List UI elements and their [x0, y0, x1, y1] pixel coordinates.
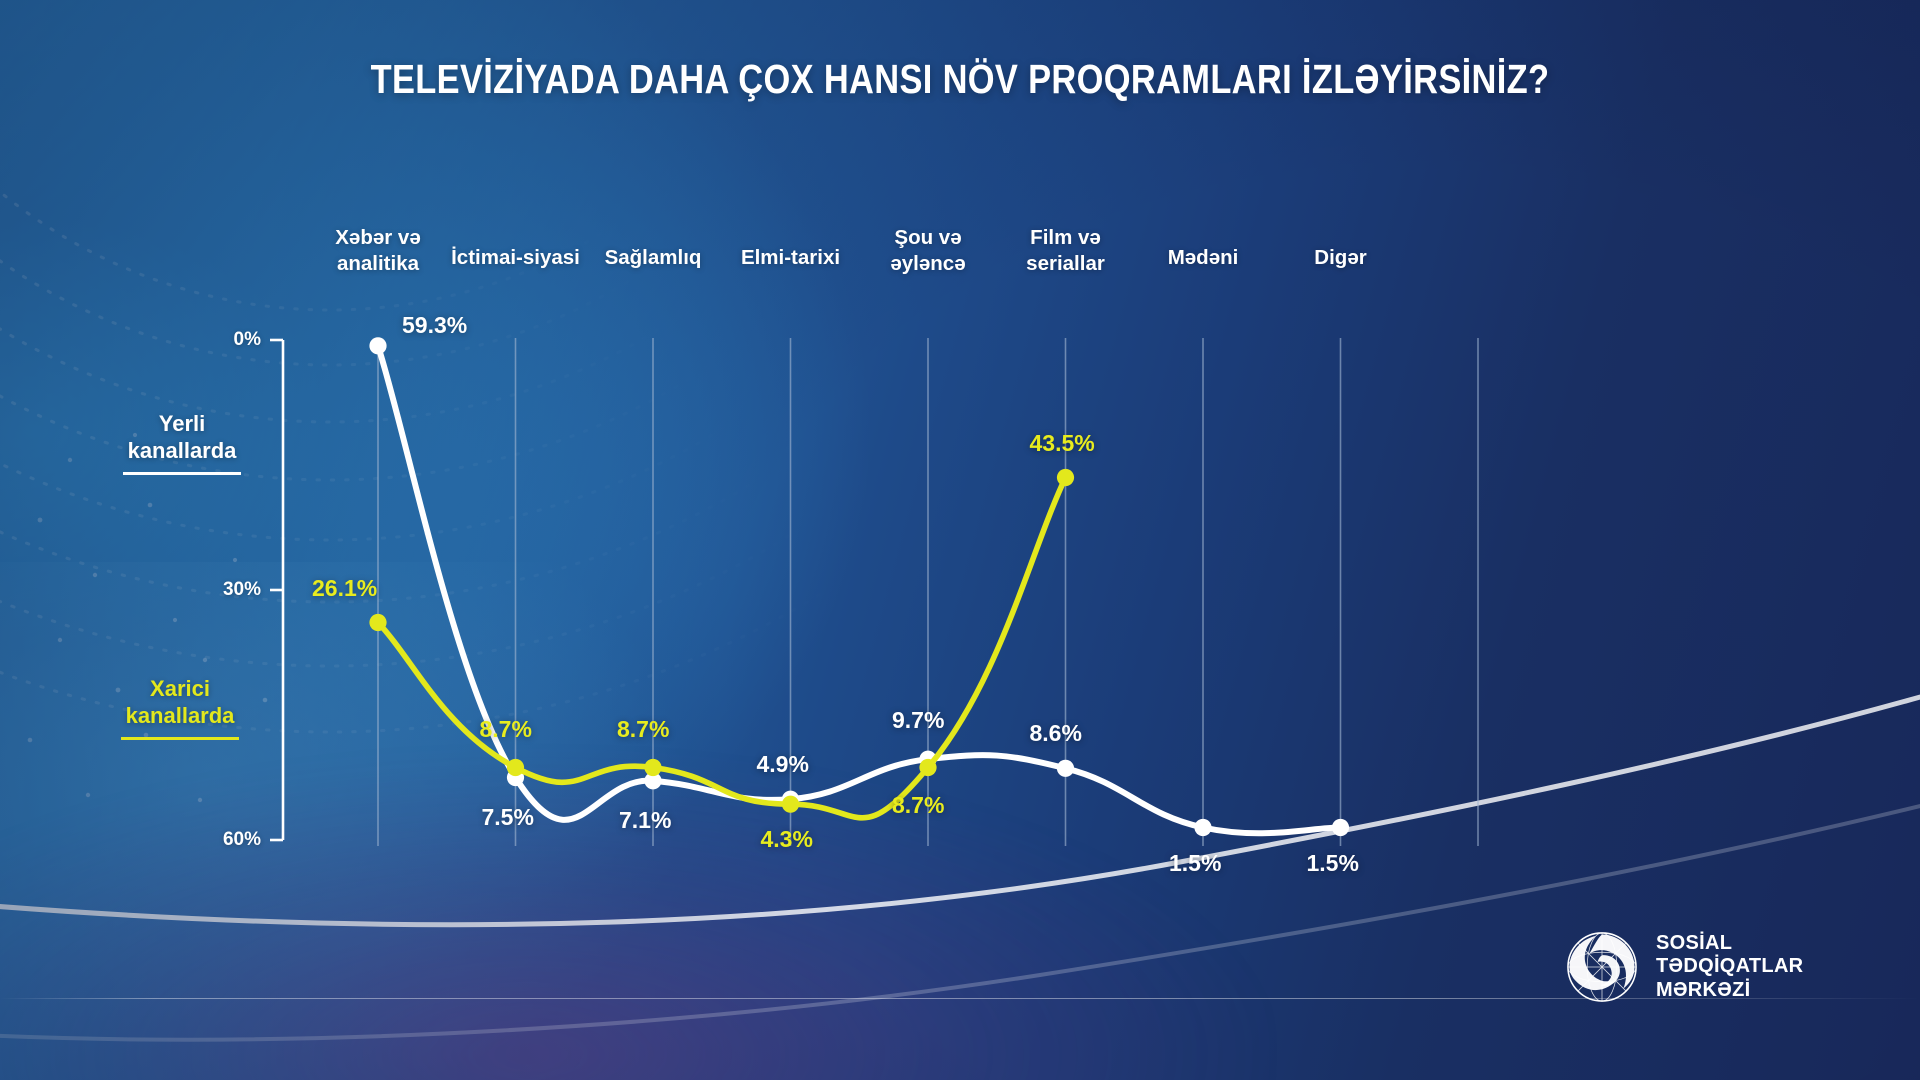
data-point[interactable]	[1332, 819, 1349, 836]
legend-line: Xarici	[75, 675, 285, 702]
data-label-foreign-0: 26.1%	[312, 575, 377, 602]
series-foreign	[369, 469, 1074, 818]
data-label-foreign-3: 4.3%	[761, 826, 813, 853]
organization-logo: SOSİAL TƏDQİQATLAR MƏRKƏZİ	[1565, 930, 1803, 1004]
chart-svg	[0, 0, 1920, 1080]
legend-local: Yerlikanallarda	[77, 410, 287, 475]
data-label-local-5: 8.6%	[1030, 720, 1082, 747]
legend-underline-local	[123, 472, 241, 476]
y-tick-label-60: 0%	[171, 329, 261, 351]
legend-line: kanallarda	[77, 437, 287, 464]
data-label-local-3: 4.9%	[757, 751, 809, 778]
legend-underline-foreign	[121, 737, 239, 741]
y-tick-label-0: 60%	[171, 829, 261, 851]
data-label-foreign-2: 8.7%	[617, 716, 669, 743]
data-point[interactable]	[369, 337, 386, 354]
data-label-foreign-4: 8.7%	[892, 792, 944, 819]
data-label-local-6: 1.5%	[1169, 850, 1221, 877]
data-label-local-0: 59.3%	[402, 312, 467, 339]
swirl-globe-icon	[1565, 930, 1639, 1004]
data-label-local-1: 7.5%	[482, 804, 534, 831]
category-label-7: Digər	[1241, 245, 1441, 271]
data-label-foreign-5: 43.5%	[1030, 430, 1095, 457]
series-line	[378, 478, 1066, 818]
data-point[interactable]	[1194, 819, 1211, 836]
data-label-local-7: 1.5%	[1307, 850, 1359, 877]
logo-wordmark: SOSİAL TƏDQİQATLAR MƏRKƏZİ	[1656, 932, 1803, 1003]
y-tick-label-30: 30%	[171, 579, 261, 601]
data-point[interactable]	[1057, 469, 1074, 486]
data-label-foreign-1: 8.7%	[480, 716, 532, 743]
data-label-local-4: 9.7%	[892, 707, 944, 734]
data-point[interactable]	[507, 759, 524, 776]
category-label-line: Digər	[1241, 245, 1441, 271]
legend-foreign: Xaricikanallarda	[75, 675, 285, 740]
data-point[interactable]	[782, 796, 799, 813]
chart-plot-area: Xəbər vəanalitikaİctimai-siyasiSağlamlıq…	[0, 0, 1920, 1080]
data-point[interactable]	[369, 614, 386, 631]
data-label-local-2: 7.1%	[619, 807, 671, 834]
data-point[interactable]	[919, 759, 936, 776]
data-point[interactable]	[1057, 760, 1074, 777]
legend-line: kanallarda	[75, 702, 285, 729]
series-line	[378, 346, 1341, 833]
legend-line: Yerli	[77, 410, 287, 437]
data-point[interactable]	[644, 759, 661, 776]
